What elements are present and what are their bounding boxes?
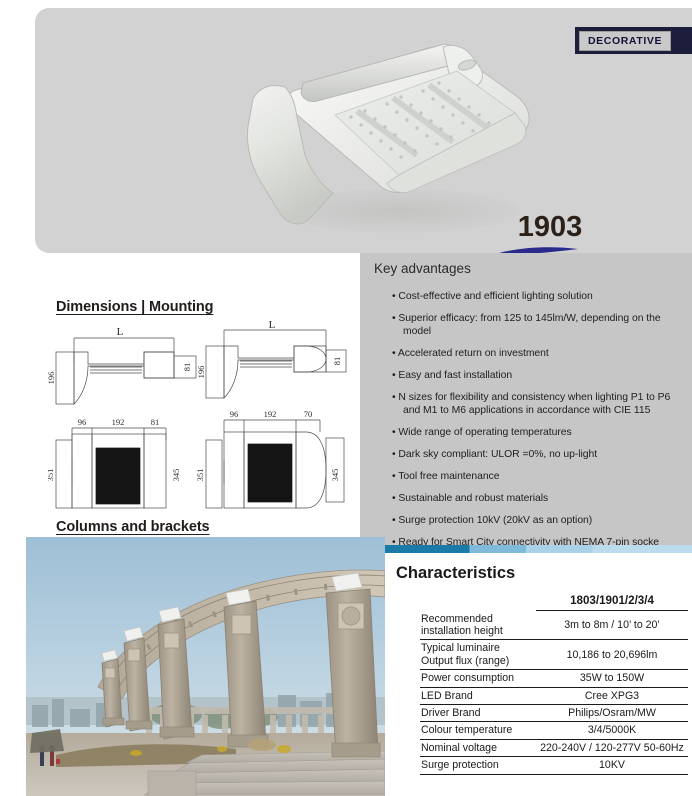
row-label: Power consumption [420, 670, 536, 687]
plan-view-left [56, 338, 196, 404]
row-label: Surge protection [420, 757, 536, 774]
plan-view-right [206, 330, 346, 398]
dim-label-351-left: 351 [48, 469, 55, 482]
model-number-block: 1903 [490, 213, 610, 242]
key-advantages-list: • Cost-effective and efficient lighting … [370, 291, 686, 559]
hero-panel: DECORATIVE 1903 [35, 8, 692, 253]
decorative-badge: DECORATIVE [575, 27, 692, 54]
table-row: Colour temperature 3/4/5000K [420, 722, 688, 739]
table-row: Power consumption 35W to 150W [420, 670, 688, 687]
dim-label-96-right: 96 [230, 409, 239, 419]
plan-view-right-bottom [206, 420, 344, 508]
characteristics-table: 1803/1901/2/3/4 Recommended installation… [420, 593, 688, 775]
table-header-row: 1803/1901/2/3/4 [420, 593, 688, 611]
list-item: • Surge protection 10kV (20kV as an opti… [370, 515, 686, 528]
list-item: • Wide range of operating temperatures [370, 427, 686, 440]
datasheet-page: DECORATIVE 1903 Key advantages • Cost-ef… [0, 0, 692, 796]
row-value: 10KV [536, 757, 688, 774]
list-item: • Sustainable and robust materials [370, 493, 686, 506]
dim-label-L-right: L [269, 320, 276, 331]
model-number: 1903 [490, 213, 610, 242]
key-advantages-panel: Key advantages • Cost-effective and effi… [360, 253, 692, 545]
dim-label-81-right: 81 [332, 357, 342, 366]
list-item: • Cost-effective and efficient lighting … [370, 291, 686, 304]
row-value: 3m to 8m / 10’ to 20’ [536, 611, 688, 640]
row-label: LED Brand [420, 687, 536, 704]
key-advantages-title: Key advantages [374, 261, 471, 276]
characteristics-heading: Characteristics [396, 564, 515, 583]
row-value: 35W to 150W [536, 670, 688, 687]
row-label: Recommended installation height [420, 611, 536, 640]
dim-label-L-left: L [117, 326, 124, 338]
columns-brackets-heading: Columns and brackets [56, 519, 210, 535]
list-item: • Superior efficacy: from 125 to 145lm/W… [370, 313, 686, 338]
table-row: Recommended installation height 3m to 8m… [420, 611, 688, 640]
dim-label-196-left: 196 [48, 372, 56, 385]
row-value: Philips/Osram/MW [536, 704, 688, 721]
table-row: Driver Brand Philips/Osram/MW [420, 704, 688, 721]
row-value: Cree XPG3 [536, 687, 688, 704]
dim-label-96-left: 96 [78, 417, 87, 427]
list-item: • Accelerated return on investment [370, 348, 686, 361]
row-label: Typical luminaire Output flux (range) [420, 640, 536, 670]
table-row: Surge protection 10KV [420, 757, 688, 774]
plan-view-left-bottom [56, 428, 166, 508]
dim-label-345-right: 345 [330, 469, 340, 482]
table-row: Nominal voltage 220-240V / 120-277V 50-6… [420, 739, 688, 756]
row-label: Colour temperature [420, 722, 536, 739]
dim-label-196-right: 196 [196, 366, 206, 379]
accent-bar [360, 545, 692, 553]
led-street-luminaire-photo [185, 43, 585, 233]
row-value: 3/4/5000K [536, 722, 688, 739]
table-row: LED Brand Cree XPG3 [420, 687, 688, 704]
dimension-drawings: L L 196 196 81 81 96 192 81 96 192 70 35… [48, 320, 353, 515]
list-item: • Dark sky compliant: ULOR =0%, no up-li… [370, 449, 686, 462]
list-item: • N sizes for flexibility and consistenc… [370, 392, 686, 417]
stone-colonnade-installation-photo [26, 537, 385, 796]
dim-label-70-right: 70 [304, 409, 313, 419]
row-value: 220-240V / 120-277V 50-60Hz [536, 739, 688, 756]
dim-label-351-right: 351 [195, 469, 205, 482]
dim-label-345-left: 345 [171, 469, 181, 482]
dimensions-heading: Dimensions | Mounting [56, 299, 213, 315]
list-item: • Tool free maintenance [370, 471, 686, 484]
table-row: Typical luminaire Output flux (range) 10… [420, 640, 688, 670]
table-header-model: 1803/1901/2/3/4 [536, 593, 688, 611]
brand-swoosh-icon [482, 246, 582, 253]
row-label: Nominal voltage [420, 739, 536, 756]
dim-label-81-left: 81 [182, 363, 192, 372]
list-item: • Easy and fast installation [370, 370, 686, 383]
dim-label-192-left: 192 [112, 417, 125, 427]
row-value: 10,186 to 20,696lm [536, 640, 688, 670]
decorative-badge-label: DECORATIVE [579, 31, 671, 51]
dim-label-81-plan-left: 81 [151, 417, 160, 427]
dim-label-192-right: 192 [264, 409, 277, 419]
row-label: Driver Brand [420, 704, 536, 721]
table-header-blank [420, 593, 536, 611]
